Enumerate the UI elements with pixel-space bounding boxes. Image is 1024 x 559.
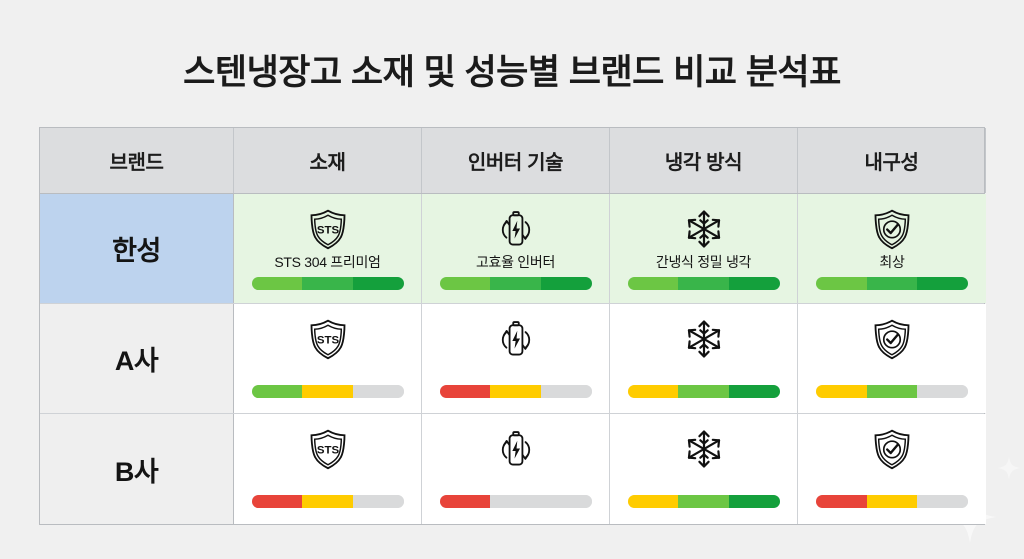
cell-label-durability: 최상	[879, 254, 904, 271]
header-cell-durability: 내구성	[798, 128, 986, 193]
header-label-cooling: 냉각 방식	[665, 146, 742, 175]
rating-bar-segment	[541, 277, 592, 290]
rating-bar-segment	[678, 385, 729, 398]
cell-label-material: STS 304 프리미엄	[274, 254, 380, 271]
cell-cooling: 간냉식 정밀 냉각	[610, 194, 798, 303]
rating-bar-segment	[490, 277, 541, 290]
shield-check-icon	[869, 316, 915, 362]
rating-bar-segment	[917, 385, 968, 398]
cell-material: STS STS 304 프리미엄	[234, 194, 422, 303]
rating-bar-segment	[729, 495, 780, 508]
table-row: A사 STS	[40, 304, 984, 414]
rating-bar-segment	[302, 385, 353, 398]
rating-bar-segment	[816, 277, 867, 290]
cell-durability	[798, 304, 986, 413]
rating-bar-cooling	[628, 277, 780, 290]
rating-bar-segment	[867, 495, 918, 508]
rating-bar-cooling	[628, 495, 780, 508]
rating-bar-segment	[816, 495, 867, 508]
brand-cell: A사	[40, 304, 234, 413]
cell-cooling	[610, 414, 798, 524]
shield-sts-icon: STS	[305, 426, 351, 472]
rating-bar-segment	[252, 277, 303, 290]
rating-bar-inverter	[440, 495, 592, 508]
shield-sts-icon: STS	[305, 316, 351, 362]
battery-inverter-icon	[493, 316, 539, 362]
cell-label-cooling: 간냉식 정밀 냉각	[656, 254, 751, 271]
cell-inverter	[422, 304, 610, 413]
table-header-row: 브랜드 소재 인버터 기술 냉각 방식 내구성	[40, 128, 984, 194]
header-cell-inverter: 인버터 기술	[422, 128, 610, 193]
header-cell-brand: 브랜드	[40, 128, 234, 193]
snowflake-icon	[681, 316, 727, 362]
header-label-inverter: 인버터 기술	[468, 146, 563, 175]
svg-text:STS: STS	[316, 335, 339, 347]
shield-sts-icon: STS	[305, 206, 351, 252]
rating-bar-segment	[490, 385, 541, 398]
rating-bar-segment	[628, 495, 679, 508]
rating-bar-segment	[729, 277, 780, 290]
header-label-brand: 브랜드	[110, 146, 164, 175]
rating-bar-segment	[353, 277, 404, 290]
rating-bar-segment	[353, 495, 404, 508]
snowflake-icon	[681, 206, 727, 252]
header-cell-cooling: 냉각 방식	[610, 128, 798, 193]
cell-durability	[798, 414, 986, 524]
cell-durability: 최상	[798, 194, 986, 303]
rating-bar-segment	[678, 495, 729, 508]
rating-bar-material	[252, 495, 404, 508]
page-root: 스텐냉장고 소재 및 성능별 브랜드 비교 분석표 브랜드 소재 인버터 기술 …	[0, 0, 1024, 559]
brand-name: A사	[115, 339, 158, 378]
rating-bar-inverter	[440, 277, 592, 290]
table-row: B사 STS	[40, 414, 984, 524]
shield-check-icon	[869, 206, 915, 252]
rating-bar-segment	[816, 385, 867, 398]
rating-bar-inverter	[440, 385, 592, 398]
sparkle-watermark-small	[996, 455, 1022, 481]
cell-material: STS	[234, 304, 422, 413]
rating-bar-segment	[302, 495, 353, 508]
page-title: 스텐냉장고 소재 및 성능별 브랜드 비교 분석표	[0, 44, 1024, 95]
rating-bar-durability	[816, 277, 968, 290]
rating-bar-segment	[302, 277, 353, 290]
rating-bar-segment	[917, 495, 968, 508]
shield-check-icon	[869, 426, 915, 472]
cell-label-inverter: 고효율 인버터	[476, 254, 555, 271]
brand-name: B사	[115, 450, 158, 489]
brand-cell: 한성	[40, 194, 234, 303]
cell-material: STS	[234, 414, 422, 524]
rating-bar-material	[252, 277, 404, 290]
table-row: 한성 STS STS 304 프리미엄 고효율 인버터 간냉식 정밀 냉각 최상	[40, 194, 984, 304]
header-cell-material: 소재	[234, 128, 422, 193]
header-label-material: 소재	[310, 146, 346, 175]
rating-bar-segment	[490, 495, 541, 508]
comparison-table: 브랜드 소재 인버터 기술 냉각 방식 내구성 한성 STS STS 304 프…	[39, 127, 985, 525]
rating-bar-durability	[816, 385, 968, 398]
svg-text:STS: STS	[316, 445, 339, 457]
rating-bar-segment	[252, 495, 303, 508]
rating-bar-segment	[678, 277, 729, 290]
brand-cell: B사	[40, 414, 234, 524]
rating-bar-segment	[867, 385, 918, 398]
cell-inverter	[422, 414, 610, 524]
snowflake-icon	[681, 426, 727, 472]
rating-bar-segment	[440, 385, 491, 398]
rating-bar-segment	[353, 385, 404, 398]
rating-bar-segment	[541, 385, 592, 398]
rating-bar-segment	[917, 277, 968, 290]
rating-bar-segment	[440, 495, 491, 508]
rating-bar-segment	[867, 277, 918, 290]
rating-bar-segment	[729, 385, 780, 398]
rating-bar-segment	[628, 277, 679, 290]
cell-inverter: 고효율 인버터	[422, 194, 610, 303]
header-label-durability: 내구성	[865, 146, 919, 175]
svg-text:STS: STS	[316, 225, 339, 237]
brand-name: 한성	[112, 229, 161, 268]
rating-bar-material	[252, 385, 404, 398]
rating-bar-segment	[440, 277, 491, 290]
rating-bar-segment	[628, 385, 679, 398]
rating-bar-cooling	[628, 385, 780, 398]
battery-inverter-icon	[493, 426, 539, 472]
battery-inverter-icon	[493, 206, 539, 252]
cell-cooling	[610, 304, 798, 413]
rating-bar-segment	[252, 385, 303, 398]
rating-bar-segment	[541, 495, 592, 508]
rating-bar-durability	[816, 495, 968, 508]
